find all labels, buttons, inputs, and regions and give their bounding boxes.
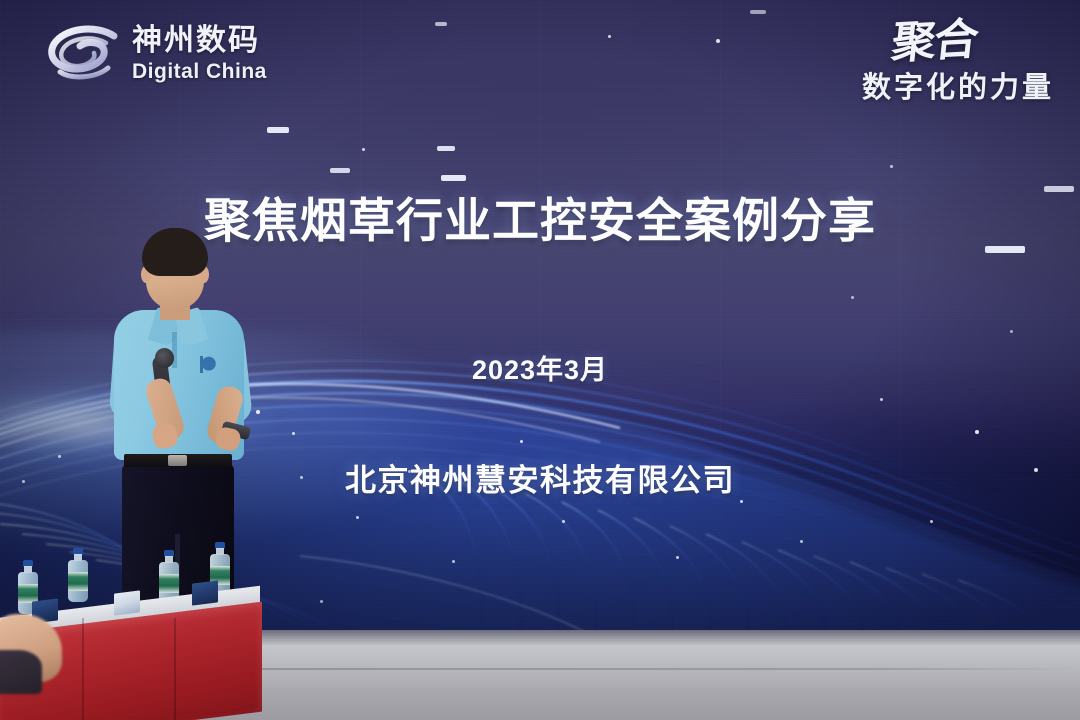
brand-name-en: Digital China xyxy=(132,61,267,82)
bottle-label xyxy=(159,574,179,593)
digital-china-spiral-logo xyxy=(44,22,122,84)
name-card xyxy=(114,590,140,615)
event-slogan-calligraphy: 聚合 xyxy=(890,20,979,65)
speaker-shirt-logo-icon xyxy=(200,356,222,373)
brand-wordmark: 神州数码 Digital China xyxy=(132,24,267,82)
conference-stage-photo: 神州数码 Digital China 聚合 数字化的力量 聚焦烟草行业工控安全案… xyxy=(0,0,1080,720)
event-slogan-subtitle: 数字化的力量 xyxy=(862,64,1054,106)
foreground-attendee-shoulder xyxy=(0,650,42,694)
speaker-belt-buckle xyxy=(168,455,187,466)
speaker-hair xyxy=(142,228,208,276)
name-card xyxy=(192,580,218,605)
bottle-label xyxy=(68,572,88,591)
skirt-fold xyxy=(82,618,84,720)
skirt-fold xyxy=(174,618,176,720)
event-slogan-block: 聚合 数字化的力量 xyxy=(862,22,1054,106)
brand-name-cn: 神州数码 xyxy=(132,26,267,56)
brand-logo-block: 神州数码 Digital China xyxy=(44,22,267,84)
